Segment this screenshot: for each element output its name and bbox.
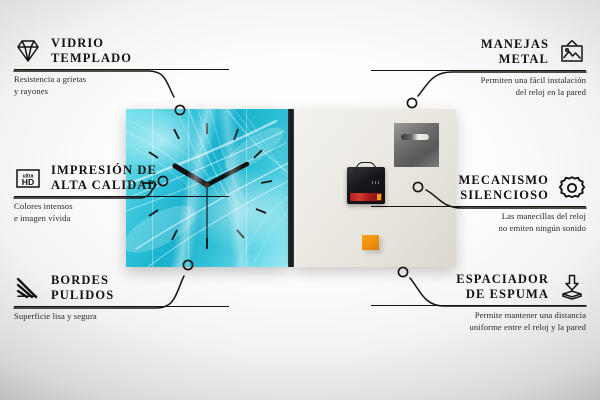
feature-title: MANEJAS METAL	[371, 37, 549, 67]
ultra-hd-icon: ultra HD	[14, 164, 42, 192]
mechanism-handle	[356, 162, 376, 169]
feature-description: Las manecillas del reloj no emiten ningú…	[371, 207, 586, 234]
feature-title: IMPRESIÓN DE ALTA CALIDAD	[51, 163, 229, 193]
hanger-keyhole-slot	[401, 134, 429, 140]
feature-vidrio-templado: VIDRIO TEMPLADO Resistencia a grietas y …	[14, 36, 229, 97]
feature-title: ESPACIADOR DE ESPUMA	[371, 272, 549, 302]
feature-header: BORDES PULIDOS	[14, 273, 229, 306]
diamond-icon	[14, 37, 42, 65]
feature-description: Permiten una fácil instalación del reloj…	[371, 71, 586, 98]
picture-frame-icon	[558, 38, 586, 66]
feature-header: ESPACIADOR DE ESPUMA	[371, 272, 586, 305]
feature-header: VIDRIO TEMPLADO	[14, 36, 229, 69]
feature-mecanismo-silencioso: MECANISMO SILENCIOSO Las manecillas del …	[371, 173, 586, 234]
feature-title: VIDRIO TEMPLADO	[51, 36, 229, 66]
feature-header: MECANISMO SILENCIOSO	[371, 173, 586, 206]
polished-edges-icon	[14, 274, 42, 302]
feature-title: BORDES PULIDOS	[51, 273, 229, 303]
feature-title: MECANISMO SILENCIOSO	[371, 173, 549, 203]
svg-text:HD: HD	[22, 177, 34, 187]
feature-description: Permite mantener una distancia uniforme …	[371, 306, 586, 333]
feature-description: Superficie lisa y segura	[14, 307, 229, 322]
feature-espaciador-espuma: ESPACIADOR DE ESPUMA Permite mantener un…	[371, 272, 586, 333]
foam-spacer	[362, 235, 379, 250]
feature-header: ultra HD IMPRESIÓN DE ALTA CALIDAD	[14, 163, 229, 196]
feature-header: MANEJAS METAL	[371, 37, 586, 70]
metal-hanger-plate	[394, 123, 439, 167]
feature-bordes-pulidos: BORDES PULIDOS Superficie lisa y segura	[14, 273, 229, 322]
feature-description: Colores intensos e imagen vívida	[14, 197, 229, 224]
feature-impresion-alta-calidad: ultra HD IMPRESIÓN DE ALTA CALIDAD Color…	[14, 163, 229, 224]
feature-manejas-metal: MANEJAS METAL Permiten una fácil instala…	[371, 37, 586, 98]
feature-description: Resistencia a grietas y rayones	[14, 70, 229, 97]
infographic-canvas: VIDRIO TEMPLADO Resistencia a grietas y …	[0, 0, 600, 400]
foam-spacer-icon	[558, 273, 586, 301]
gear-icon	[558, 174, 586, 202]
